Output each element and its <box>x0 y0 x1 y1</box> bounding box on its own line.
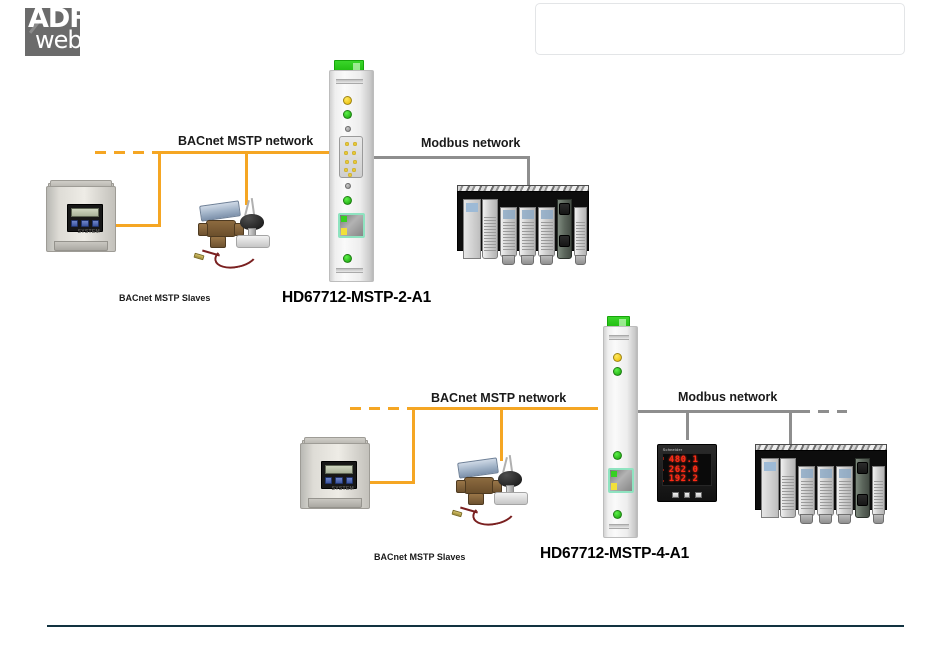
power-meter-tick <box>663 457 665 459</box>
converter-module-2 <box>603 316 638 538</box>
sensor-plug <box>194 253 205 261</box>
controller-panel <box>321 461 357 489</box>
converter-module-1 <box>329 60 374 282</box>
sensor-plug <box>452 510 463 518</box>
plc-io-module-3 <box>836 466 853 516</box>
plc-module-grill <box>503 222 515 250</box>
plc-io-module-2 <box>519 207 536 257</box>
modbus-network-label-1: Modbus network <box>421 136 520 150</box>
plc-module-foot <box>502 255 515 265</box>
footer-divider <box>47 625 904 627</box>
plc-module-grill <box>801 481 813 509</box>
bacnet-slaves-label-2: BACnet MSTP Slaves <box>374 552 465 562</box>
heat-meter-body <box>464 477 494 494</box>
model-label-1: HD67712-MSTP-2-A1 <box>282 289 431 307</box>
rj45-activity-led <box>341 228 347 235</box>
plc-io-module-1 <box>798 466 815 516</box>
ethernet-rj45-port[interactable] <box>338 213 365 238</box>
heat-meter-flange-left <box>456 480 466 493</box>
power-meter-frame: Schneider 480.1 262.0 192.2 <box>657 444 717 502</box>
controller-brand: SYSTEM <box>332 486 354 492</box>
power-meter-display: 480.1 262.0 192.2 <box>662 453 712 487</box>
bacnet-drop-controller-h-2 <box>370 481 414 484</box>
plc-module-grill <box>839 481 851 509</box>
plc-psu-label <box>764 462 776 470</box>
screw-bottom <box>345 183 351 189</box>
led-yellow-1 <box>343 96 352 105</box>
power-meter-tick <box>663 469 665 471</box>
modbus-bus-1 <box>371 156 530 159</box>
module-body <box>329 70 374 282</box>
plc-module-grill <box>782 476 793 510</box>
power-meter-reading-1: 480.1 <box>669 456 706 464</box>
module-vent-top <box>336 79 363 84</box>
db9-pin <box>353 160 357 164</box>
plc-module-foot <box>575 255 586 265</box>
plc-io-module-1 <box>500 207 517 257</box>
bacnet-drop-meter-1 <box>245 151 248 205</box>
module-body <box>603 326 638 538</box>
plc-module-grill <box>874 481 883 509</box>
modbus-bus-dashed-2 <box>799 410 847 413</box>
plc-power-supply <box>761 458 779 518</box>
db9-pin <box>353 142 357 146</box>
screw-top <box>345 126 351 132</box>
heat-meter-outlet <box>468 493 484 505</box>
controller-button-2[interactable] <box>81 220 88 227</box>
power-meter-tick <box>663 480 665 482</box>
modbus-bus-2 <box>638 410 799 413</box>
module-vent-bottom <box>336 268 363 273</box>
header-title-box <box>535 3 905 55</box>
db9-pin <box>352 168 356 172</box>
bacnet-drop-controller-1 <box>158 151 161 227</box>
led-green-3 <box>343 254 352 263</box>
power-meter-reading-2: 262.0 <box>669 466 706 474</box>
power-meter-button-3[interactable] <box>695 492 702 498</box>
bacnet-bus-dashed-1 <box>95 151 157 154</box>
plc-rack-1 <box>457 185 589 265</box>
heat-meter-valve-2 <box>448 455 548 527</box>
heat-meter-flange-left <box>198 223 208 236</box>
plc-io-module-4 <box>574 207 587 257</box>
bacnet-drop-meter-2 <box>500 407 503 461</box>
plc-io-module-2 <box>817 466 834 516</box>
bacnet-network-label-2: BACnet MSTP network <box>431 391 566 405</box>
bacnet-bus-1 <box>156 151 342 154</box>
model-label-2: HD67712-MSTP-4-A1 <box>540 545 689 563</box>
controller-brand: SYSTEM <box>78 229 100 235</box>
led-green-2 <box>343 196 352 205</box>
panel-power-meter: Schneider 480.1 262.0 192.2 <box>657 444 717 502</box>
wall-controller-2: SYSTEM <box>300 437 370 519</box>
page-root: ADF web BACnet MSTP network Modbus netwo… <box>0 0 950 659</box>
plc-cpu-module <box>780 458 796 518</box>
bacnet-network-label-1: BACnet MSTP network <box>178 134 313 148</box>
plc-module-foot <box>819 514 832 524</box>
plc-io-module-3 <box>538 207 555 257</box>
led-green-3 <box>613 510 622 519</box>
db9-serial-connector[interactable] <box>339 136 363 178</box>
led-green-1 <box>613 367 622 376</box>
plc-module-grill <box>541 222 553 250</box>
power-meter-brand: Schneider <box>663 447 683 452</box>
controller-button-2[interactable] <box>335 477 342 484</box>
plc-module-label <box>801 469 813 478</box>
plc-module-label <box>522 210 534 219</box>
power-meter-button-1[interactable] <box>672 492 679 498</box>
plc-module-grill <box>484 217 495 251</box>
logo-line2: web <box>35 28 80 52</box>
heat-meter-body <box>206 220 236 237</box>
plc-module-foot <box>521 255 534 265</box>
plc-dsub-connector-bottom <box>559 235 570 247</box>
plc-module-foot <box>838 514 851 524</box>
db9-pin <box>345 160 349 164</box>
modbus-drop-pmeter-2 <box>686 410 689 440</box>
plc-dsub-connector-bottom <box>857 494 868 506</box>
plc-power-supply <box>463 199 481 259</box>
ethernet-rj45-port[interactable] <box>608 468 634 493</box>
wall-controller-1: SYSTEM <box>46 180 116 262</box>
plc-module-label <box>503 210 515 219</box>
db9-pin <box>345 142 349 146</box>
controller-base <box>308 498 362 508</box>
plc-cpu-module <box>482 199 498 259</box>
controller-housing: SYSTEM <box>46 186 116 252</box>
module-vent-bottom <box>609 524 629 529</box>
db9-pin <box>344 151 348 155</box>
db9-pin <box>348 173 352 177</box>
db9-pin <box>344 168 348 172</box>
controller-button-1[interactable] <box>71 220 78 227</box>
heat-meter-head <box>457 457 499 478</box>
controller-lcd-display <box>325 465 354 474</box>
modbus-drop-plc-2 <box>789 410 792 444</box>
controller-housing: SYSTEM <box>300 443 370 509</box>
bacnet-drop-controller-h-1 <box>116 224 160 227</box>
plc-module-label <box>839 469 851 478</box>
controller-lcd-display <box>71 208 100 217</box>
plc-module-foot <box>873 514 884 524</box>
plc-module-foot <box>800 514 813 524</box>
controller-panel <box>67 204 103 232</box>
rj45-link-led <box>341 216 347 222</box>
plc-module-label <box>820 469 832 478</box>
modbus-network-label-2: Modbus network <box>678 390 777 404</box>
controller-base <box>54 241 108 251</box>
rj45-activity-led <box>611 483 617 490</box>
controller-button-1[interactable] <box>325 477 332 484</box>
heat-meter-head <box>199 200 241 221</box>
plc-module-foot <box>540 255 553 265</box>
led-yellow-1 <box>613 353 622 362</box>
plc-module-grill <box>522 222 534 250</box>
led-green-2 <box>613 451 622 460</box>
db9-pin <box>352 151 356 155</box>
power-meter-reading-3: 192.2 <box>669 475 706 483</box>
plc-module-grill <box>576 222 585 250</box>
controller-button-3[interactable] <box>92 220 99 227</box>
plc-dsub-connector-top <box>857 462 868 474</box>
heat-meter-outlet <box>210 236 226 248</box>
power-meter-button-2[interactable] <box>684 492 691 498</box>
plc-module-grill <box>820 481 832 509</box>
plc-io-module-4 <box>872 466 885 516</box>
plc-module-label <box>541 210 553 219</box>
adfweb-logo: ADF web <box>25 8 80 56</box>
heat-meter-valve-1 <box>190 198 290 270</box>
rj45-link-led <box>611 471 617 477</box>
module-vent-top <box>609 335 629 340</box>
bacnet-bus-dashed-2 <box>350 407 408 410</box>
bacnet-bus-2 <box>408 407 598 410</box>
plc-dsub-connector-top <box>559 203 570 215</box>
plc-psu-label <box>466 203 478 211</box>
plc-rack-2 <box>755 444 887 524</box>
led-green-1 <box>343 110 352 119</box>
controller-button-3[interactable] <box>346 477 353 484</box>
bacnet-drop-controller-2 <box>412 407 415 484</box>
bacnet-slaves-label-1: BACnet MSTP Slaves <box>119 293 210 303</box>
